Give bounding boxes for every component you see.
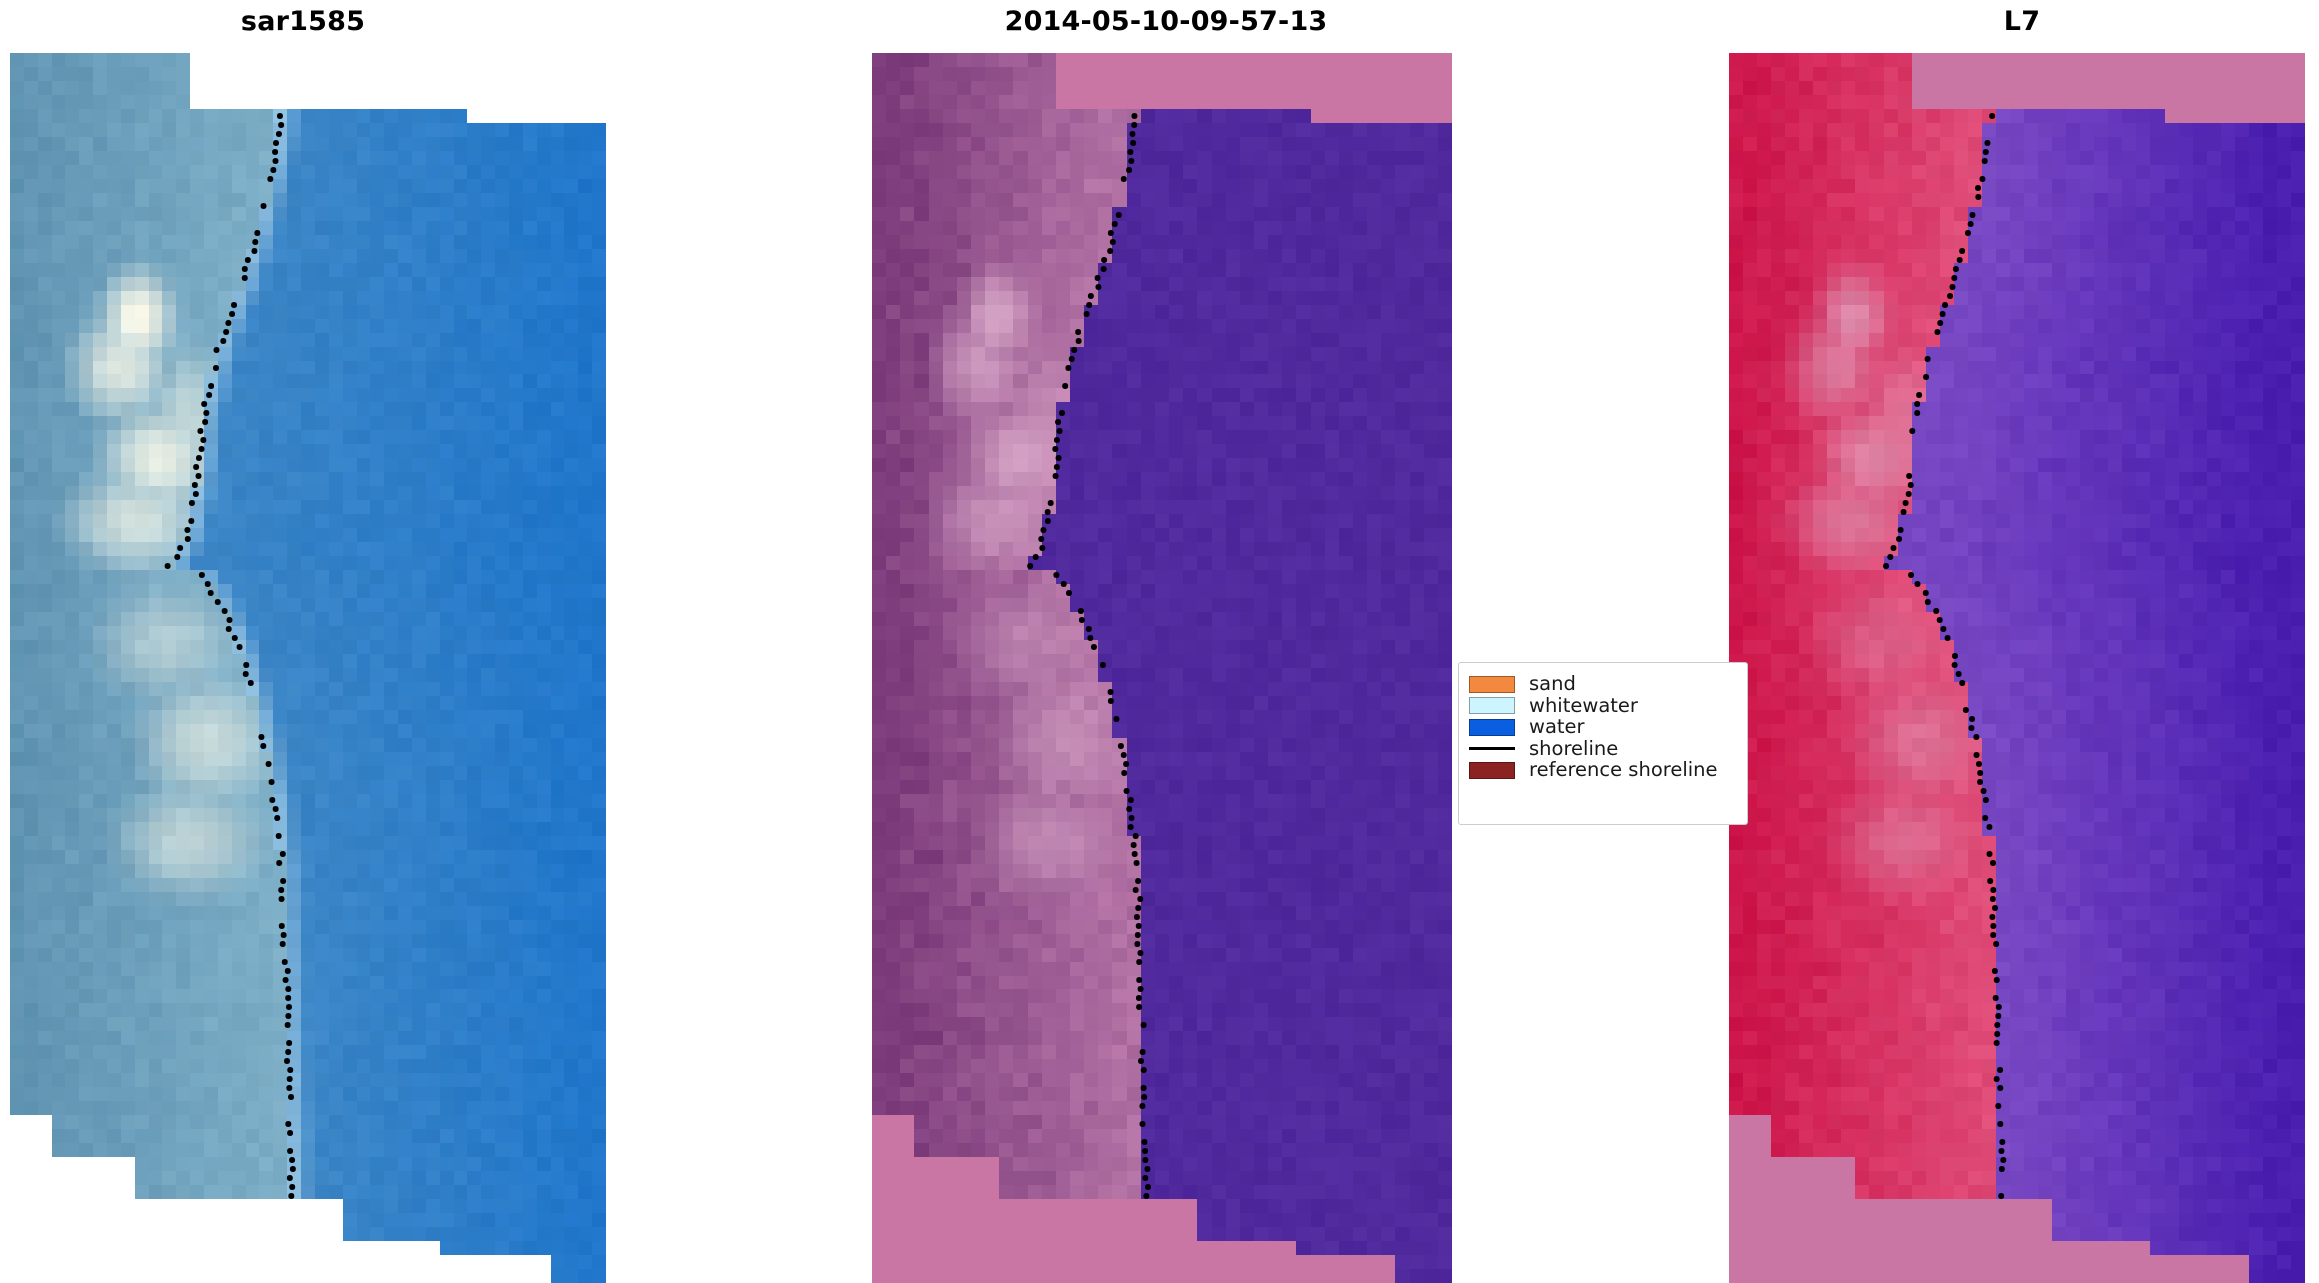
panel-sar1585[interactable] — [10, 53, 606, 1283]
legend-label: water — [1529, 717, 1585, 737]
sar1585-raster-image — [10, 53, 606, 1283]
shoreline-comparison-figure: sar1585 2014-05-10-09-57-13 L7 sandwhite… — [0, 0, 2319, 1283]
panel-L7[interactable] — [1729, 53, 2305, 1283]
panel-title-L7: L7 — [1622, 6, 2319, 37]
classification-legend[interactable]: sandwhitewaterwatershorelinereference sh… — [1458, 662, 1748, 825]
L7-raster-image — [1729, 53, 2305, 1283]
legend-row-water[interactable]: water — [1469, 717, 1735, 738]
panel-title-classified: 2014-05-10-09-57-13 — [766, 6, 1566, 37]
panel-classified[interactable] — [872, 53, 1452, 1283]
classified-raster-image — [872, 53, 1452, 1283]
legend-row-whitewater[interactable]: whitewater — [1469, 696, 1735, 717]
legend-row-reference-shoreline[interactable]: reference shoreline — [1469, 760, 1735, 781]
legend-label: sand — [1529, 674, 1576, 694]
legend-swatch-icon-whitewater — [1469, 697, 1515, 714]
legend-label: shoreline — [1529, 739, 1618, 759]
legend-row-shoreline[interactable]: shoreline — [1469, 739, 1735, 760]
legend-line-icon-shoreline — [1469, 740, 1515, 757]
panel-title-sar1585: sar1585 — [0, 6, 703, 37]
legend-row-sand[interactable]: sand — [1469, 674, 1735, 695]
legend-label: reference shoreline — [1529, 760, 1718, 780]
legend-swatch-icon-reference-shoreline — [1469, 762, 1515, 779]
legend-swatch-icon-sand — [1469, 676, 1515, 693]
legend-label: whitewater — [1529, 696, 1638, 716]
legend-swatch-icon-water — [1469, 719, 1515, 736]
